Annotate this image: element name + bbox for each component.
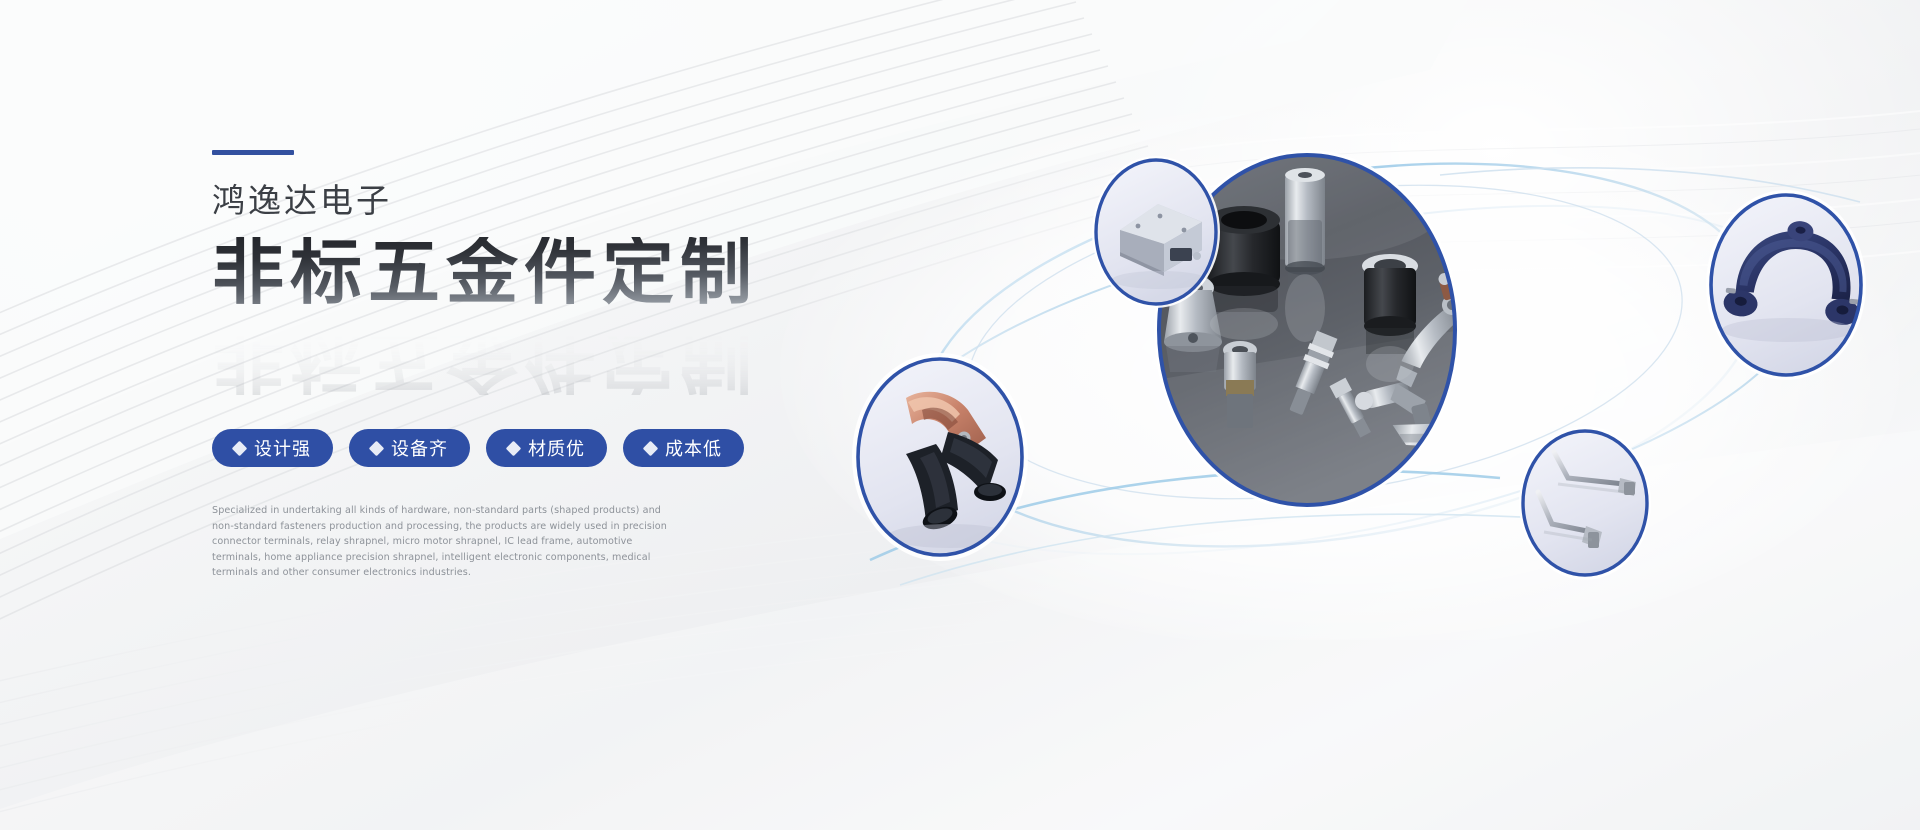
diamond-icon [506, 441, 522, 457]
diamond-icon [232, 441, 248, 457]
product-showcase-graphic [740, 80, 1920, 640]
badge-material[interactable]: 材质优 [486, 429, 607, 467]
diamond-icon [643, 441, 659, 457]
badge-label: 设备齐 [391, 435, 448, 461]
badge-design[interactable]: 设计强 [212, 429, 333, 467]
badge-equipment[interactable]: 设备齐 [349, 429, 470, 467]
hero-banner: 鸿逸达电子 非标五金件定制 非标五金件定制 设计强 设备齐 材质优 成本低 [0, 0, 1920, 830]
company-description: Specialized in undertaking all kinds of … [212, 503, 682, 581]
badge-label: 成本低 [665, 435, 722, 461]
bent-terminal-pins-photo [1519, 426, 1651, 580]
headline-reflection: 非标五金件定制 [212, 323, 758, 395]
diamond-icon [369, 441, 385, 457]
metal-enclosure-photo [1092, 156, 1220, 308]
badge-label: 材质优 [528, 435, 585, 461]
product-showcase [740, 80, 1920, 640]
accent-rule [212, 150, 294, 155]
badge-label: 设计强 [254, 435, 311, 461]
badge-cost[interactable]: 成本低 [623, 429, 744, 467]
